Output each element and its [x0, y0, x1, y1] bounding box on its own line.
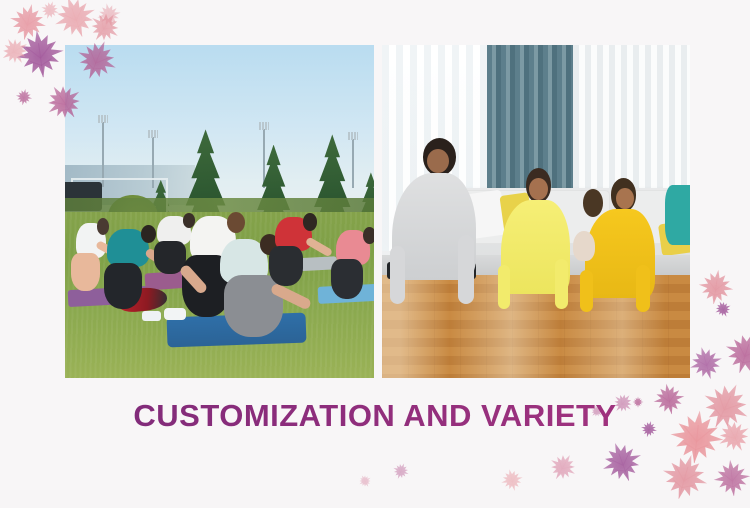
adult-in-cobra-pose [385, 138, 496, 311]
maple-leaf-icon [710, 456, 750, 500]
outdoor-scene [65, 45, 374, 378]
maple-leaf-icon [543, 447, 584, 488]
maple-leaf-icon [717, 324, 750, 382]
page-title: CUSTOMIZATION AND VARIETY [0, 398, 750, 434]
poster-canvas: CUSTOMIZATION AND VARIETY [0, 0, 750, 490]
arm [498, 265, 510, 309]
photo-outdoor-group-yoga[interactable] [65, 45, 374, 378]
child-foot [573, 231, 595, 261]
face [616, 188, 634, 209]
arm [580, 270, 593, 312]
maple-leaf-icon [37, 0, 62, 23]
maple-leaf-icon [695, 266, 738, 309]
arm [555, 259, 568, 309]
maple-leaf-icon [684, 341, 729, 386]
maple-leaf-icon [14, 87, 35, 108]
maple-leaf-icon [46, 0, 105, 46]
maple-leaf-icon [94, 0, 125, 30]
photo-indoor-family-yoga[interactable] [382, 45, 690, 378]
maple-leaf-icon [389, 459, 412, 482]
partial-figure-teal [665, 185, 690, 245]
arm [458, 235, 474, 304]
maple-leaf-icon [654, 446, 716, 508]
maple-leaf-icon [497, 465, 526, 494]
arm [390, 246, 406, 305]
face [529, 178, 547, 200]
maple-leaf-icon [594, 434, 650, 490]
maple-leaf-icon [81, 3, 128, 50]
maple-leaf-icon [0, 31, 35, 72]
arm [636, 265, 650, 313]
maple-leaf-icon [11, 25, 70, 84]
maple-leaf-icon [711, 297, 735, 321]
hair-bun [583, 189, 603, 217]
maple-leaf-icon [355, 471, 374, 490]
indoor-scene [382, 45, 690, 378]
maple-leaf-icon [4, 0, 51, 46]
yoga-participant [331, 225, 374, 312]
